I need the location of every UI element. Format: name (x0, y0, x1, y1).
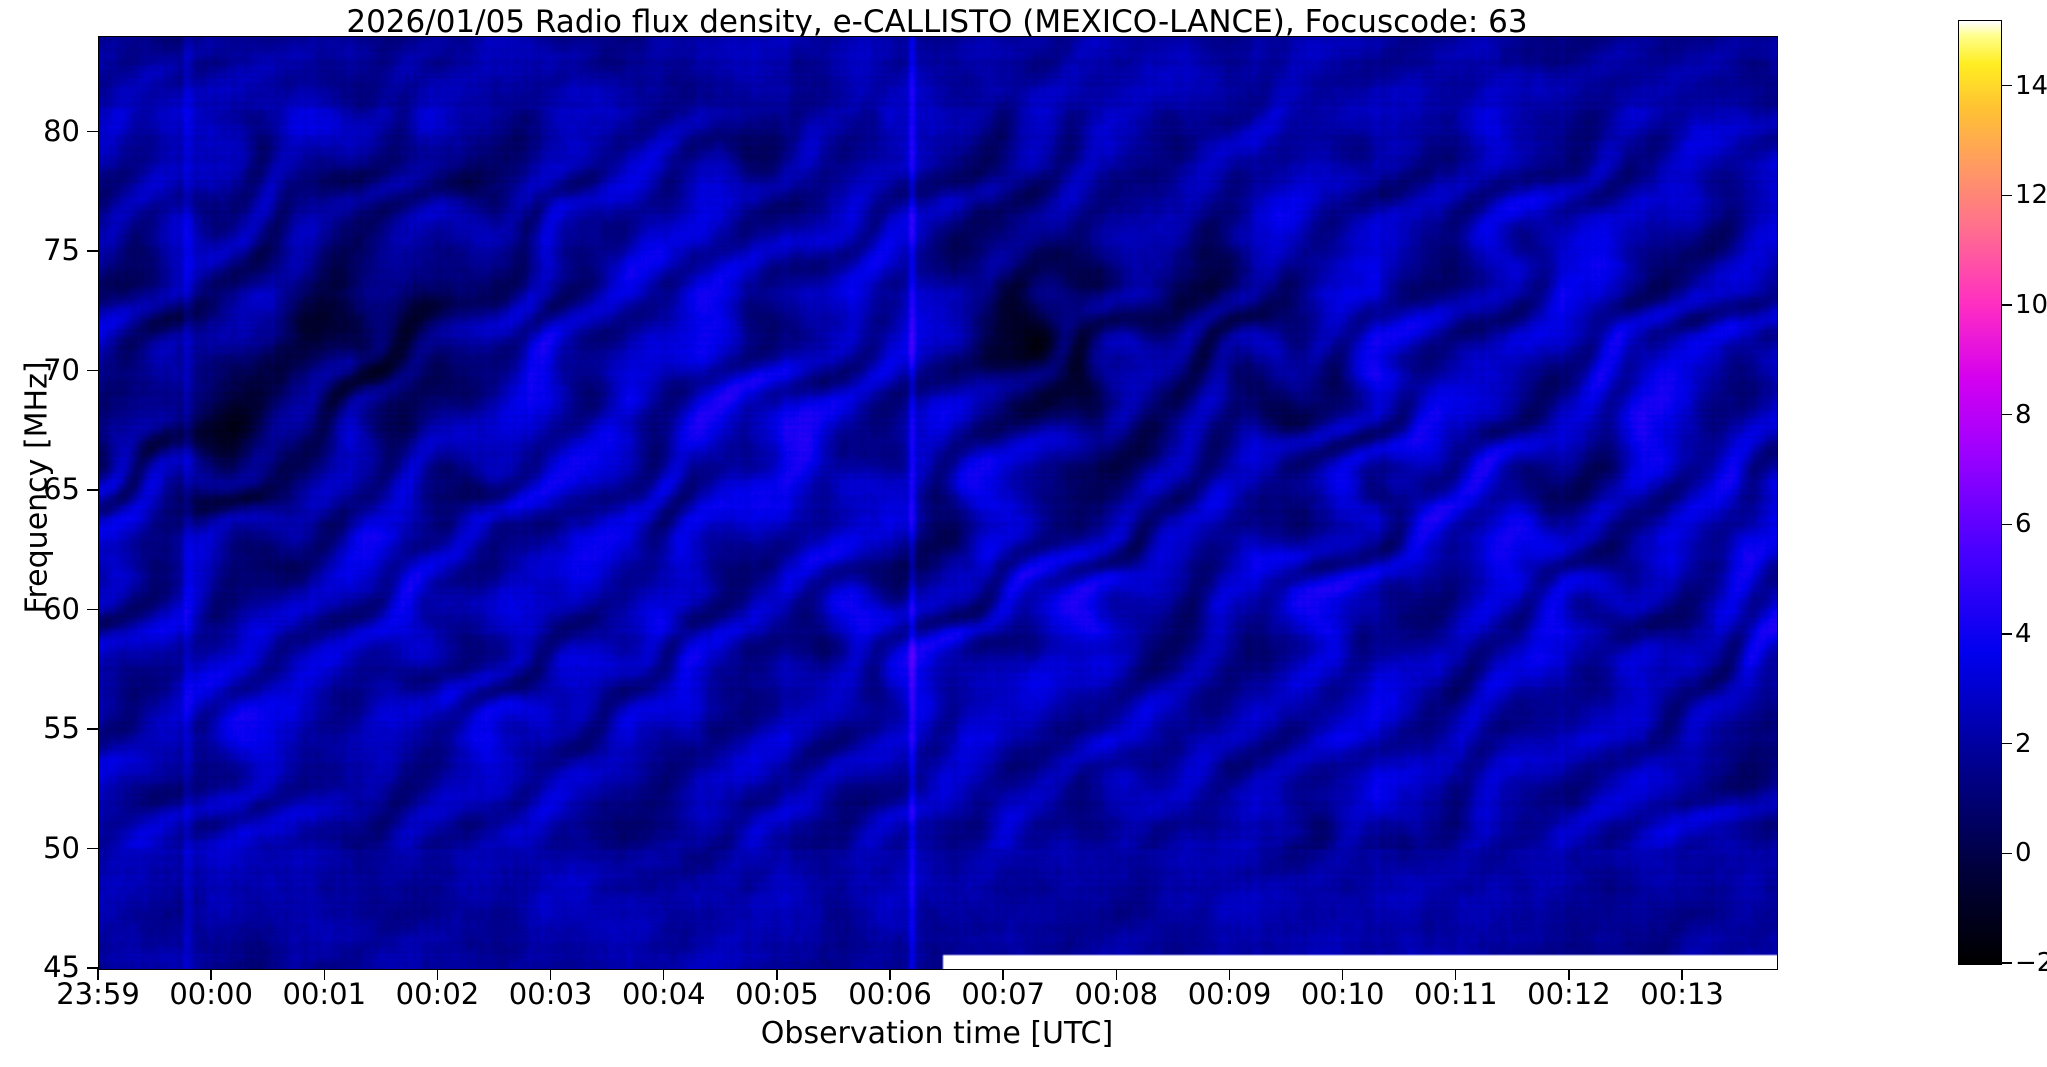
colorbar-tick-mark (2002, 633, 2012, 634)
y-tick-mark (87, 370, 98, 371)
colorbar-tick-label: 8 (2015, 400, 2032, 430)
colorbar-tick-mark (2002, 962, 2012, 963)
x-tick-label: 00:10 (1301, 977, 1385, 1011)
y-tick-mark (87, 489, 98, 490)
spectrogram-heatmap (99, 37, 1777, 969)
colorbar-tick-label: 12 (2015, 180, 2047, 210)
x-tick-label: 00:09 (1188, 977, 1272, 1011)
x-tick-label: 00:11 (1414, 977, 1498, 1011)
y-tick-label: 50 (0, 831, 80, 865)
x-tick-label: 00:03 (509, 977, 593, 1011)
x-tick-label: 00:00 (169, 977, 253, 1011)
colorbar-tick-label: −2 (2015, 948, 2047, 978)
colorbar-tick-mark (2002, 743, 2012, 744)
y-tick-mark (87, 848, 98, 849)
x-tick-label: 00:08 (1075, 977, 1159, 1011)
colorbar-tick-label: 6 (2015, 509, 2032, 539)
colorbar-tick-mark (2002, 304, 2012, 305)
x-tick-label: 00:13 (1640, 977, 1724, 1011)
page-title: 2026/01/05 Radio flux density, e-CALLIST… (98, 4, 1776, 40)
colorbar-tick-label: 10 (2015, 290, 2047, 320)
y-tick-mark (87, 250, 98, 251)
y-tick-label: 55 (0, 711, 80, 745)
y-tick-mark (87, 728, 98, 729)
y-tick-mark (87, 131, 98, 132)
x-tick-label: 23:59 (56, 977, 140, 1011)
colorbar-tick-mark (2002, 85, 2012, 86)
x-tick-label: 00:04 (622, 977, 706, 1011)
colorbar-tick-label: 2 (2015, 729, 2032, 759)
spectrogram-plot-area[interactable] (98, 36, 1778, 970)
x-axis-label: Observation time [UTC] (98, 1016, 1776, 1051)
x-tick-label: 00:01 (283, 977, 367, 1011)
colorbar-tick-mark (2002, 414, 2012, 415)
colorbar-tick-label: 0 (2015, 838, 2032, 868)
x-tick-label: 00:12 (1527, 977, 1611, 1011)
y-tick-mark (87, 609, 98, 610)
y-tick-label: 60 (0, 592, 80, 626)
y-tick-label: 80 (0, 114, 80, 148)
colorbar-tick-mark (2002, 853, 2012, 854)
figure-root: 2026/01/05 Radio flux density, e-CALLIST… (0, 0, 2047, 1067)
x-tick-label: 00:06 (848, 977, 932, 1011)
y-tick-label: 65 (0, 472, 80, 506)
colorbar-gradient (1959, 21, 2001, 964)
colorbar-tick-mark (2002, 195, 2012, 196)
colorbar[interactable] (1958, 20, 2002, 965)
colorbar-tick-mark (2002, 524, 2012, 525)
x-tick-label: 00:07 (961, 977, 1045, 1011)
x-tick-label: 00:02 (396, 977, 480, 1011)
y-tick-label: 70 (0, 353, 80, 387)
colorbar-tick-label: 4 (2015, 619, 2032, 649)
colorbar-tick-label: 14 (2015, 71, 2047, 101)
y-tick-label: 75 (0, 233, 80, 267)
x-tick-label: 00:05 (735, 977, 819, 1011)
